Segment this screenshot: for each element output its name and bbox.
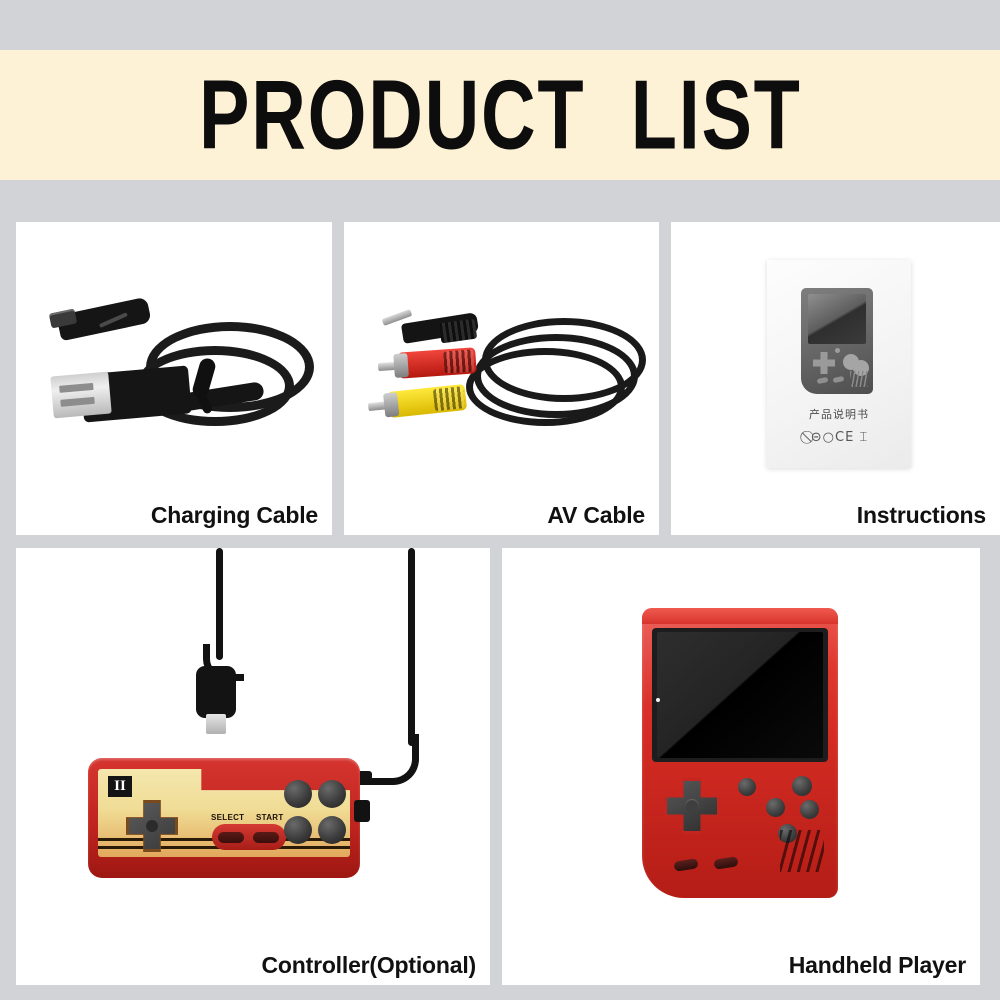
card-label-charging-cable: Charging Cable xyxy=(151,502,318,529)
product-card-controller[interactable]: II SELECT START Controller(Optional) xyxy=(16,548,490,985)
booklet-console-pill-1 xyxy=(817,377,829,384)
handheld-button-upper-right xyxy=(792,776,812,796)
micro-usb-highlight xyxy=(99,312,128,328)
handheld-top-lip xyxy=(642,608,838,624)
booklet-title-text: 产品说明书 xyxy=(767,406,911,422)
gamepad-action-button-2 xyxy=(318,780,346,808)
booklet-console-led xyxy=(835,348,840,353)
product-card-instructions[interactable]: 产品说明书 ⃠⊝○CE ⌶ Instructions xyxy=(671,222,1000,535)
gamepad-action-button-4 xyxy=(318,816,346,844)
gamepad-body: II SELECT START xyxy=(88,758,360,878)
handheld-button-middle xyxy=(766,798,785,817)
gamepad-action-button-3 xyxy=(284,816,312,844)
page-title: PRODUCT LIST xyxy=(199,66,802,165)
gamepad-start-button xyxy=(253,832,279,843)
handheld-dpad-center xyxy=(685,799,699,813)
rca-red-ring xyxy=(393,353,409,378)
handheld-screen-bezel xyxy=(652,628,828,762)
gamepad-select-button xyxy=(218,832,244,843)
gamepad-dpad-center xyxy=(146,820,158,832)
av-cable-image xyxy=(344,222,659,535)
rca-connector-red xyxy=(397,347,477,378)
audio-jack-grip xyxy=(439,319,477,344)
booklet-console-pill-2 xyxy=(833,376,845,383)
handheld-power-led xyxy=(656,698,660,702)
booklet-console-speaker-grille xyxy=(850,371,868,387)
gamepad-start-label: START xyxy=(256,813,284,822)
booklet-console-screen xyxy=(808,294,866,344)
rca-yellow-ring xyxy=(383,392,399,417)
handheld-select-button xyxy=(673,858,698,872)
handheld-speaker-grille xyxy=(780,830,824,872)
handheld-button-top xyxy=(738,778,756,796)
handheld-button-right xyxy=(800,800,819,819)
gamepad-select-start-housing xyxy=(212,824,286,850)
product-card-av-cable[interactable]: AV Cable xyxy=(344,222,659,535)
instructions-image: 产品说明书 ⃠⊝○CE ⌶ xyxy=(671,222,1000,535)
gamepad-select-label: SELECT xyxy=(211,813,244,822)
rca-yellow-grip xyxy=(433,386,465,411)
product-card-charging-cable[interactable]: Charging Cable xyxy=(16,222,332,535)
product-card-handheld-player[interactable]: Handheld Player xyxy=(502,548,980,985)
booklet-console-dpad xyxy=(813,352,835,374)
booklet-console-illustration xyxy=(801,288,873,394)
card-label-controller: Controller(Optional) xyxy=(262,952,476,979)
card-label-handheld-player: Handheld Player xyxy=(789,952,966,979)
rca-connector-yellow xyxy=(387,384,467,418)
handheld-screen xyxy=(657,632,823,758)
usb-cable-illustration xyxy=(50,300,300,440)
card-label-av-cable: AV Cable xyxy=(547,502,645,529)
page-header-banner: PRODUCT LIST xyxy=(0,50,1000,180)
rca-red-grip xyxy=(443,349,474,373)
handheld-player-image xyxy=(502,548,980,985)
controller-image: II SELECT START xyxy=(16,548,490,985)
controller-cable-right xyxy=(408,548,415,746)
controller-usb-plug xyxy=(196,666,236,718)
card-label-instructions: Instructions xyxy=(857,502,986,529)
gamepad-action-button-1 xyxy=(284,780,312,808)
booklet-compliance-icons: ⃠⊝○CE ⌶ xyxy=(767,430,911,445)
handheld-start-button xyxy=(713,856,738,870)
handheld-console-body xyxy=(642,608,838,898)
av-cable-illustration xyxy=(374,314,639,444)
gamepad-player-badge: II xyxy=(108,776,132,797)
controller-usb-plug-tip xyxy=(206,714,226,734)
instruction-booklet: 产品说明书 ⃠⊝○CE ⌶ xyxy=(767,260,911,468)
usb-a-metal-shell xyxy=(50,372,111,419)
av-cable-coil-3 xyxy=(466,348,625,426)
charging-cable-image xyxy=(16,222,332,535)
gamepad-cable-port xyxy=(354,800,370,822)
